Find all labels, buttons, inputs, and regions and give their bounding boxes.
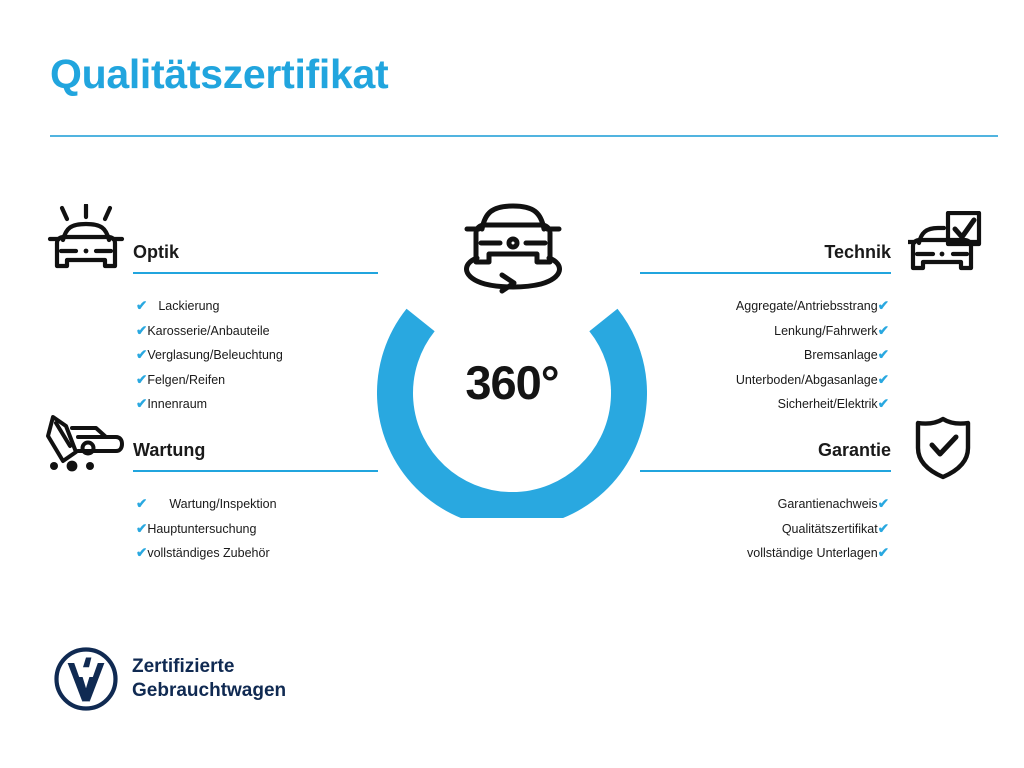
list-item-label: Karosserie/Anbauteile bbox=[147, 324, 269, 338]
shield-check-icon bbox=[914, 416, 972, 485]
check-icon: ✔ bbox=[878, 347, 889, 362]
check-icon: ✔ bbox=[878, 298, 889, 313]
list-item: ✔Innenraum bbox=[136, 392, 378, 417]
check-icon: ✔ bbox=[136, 396, 147, 411]
check-icon: ✔ bbox=[878, 496, 889, 511]
list-item: Sicherheit/Elektrik✔ bbox=[640, 392, 889, 417]
list-item: ✔Lackierung bbox=[136, 294, 378, 319]
check-icon: ✔ bbox=[878, 372, 889, 387]
badge-center-label: 360° bbox=[377, 355, 647, 410]
list-item: ✔Felgen/Reifen bbox=[136, 368, 378, 393]
section-technik: Technik Aggregate/Antriebsstrang✔ Lenkun… bbox=[640, 240, 891, 417]
section-garantie: Garantie Garantienachweis✔ Qualitätszert… bbox=[640, 438, 891, 566]
list-item-label: Qualitätszertifikat bbox=[782, 522, 878, 536]
section-optik: Optik ✔Lackierung ✔Karosserie/Anbauteile… bbox=[133, 240, 378, 417]
list-item-label: Innenraum bbox=[147, 397, 207, 411]
check-icon: ✔ bbox=[136, 496, 147, 511]
list-item-label: Aggregate/Antriebsstrang bbox=[736, 299, 878, 313]
list-item: Garantienachweis✔ bbox=[640, 492, 889, 517]
list-item-label: Wartung/Inspektion bbox=[169, 497, 276, 511]
vw-wordmark: Zertifizierte Gebrauchtwagen bbox=[132, 655, 286, 703]
check-icon: ✔ bbox=[878, 323, 889, 338]
list-item: Aggregate/Antriebsstrang✔ bbox=[640, 294, 889, 319]
section-technik-list: Aggregate/Antriebsstrang✔ Lenkung/Fahrwe… bbox=[640, 294, 891, 417]
section-title: Garantie bbox=[640, 438, 891, 462]
section-wartung-head: Wartung bbox=[133, 438, 378, 478]
vw-certified-lockup: Zertifizierte Gebrauchtwagen bbox=[54, 647, 286, 711]
check-icon: ✔ bbox=[136, 545, 147, 560]
list-item-label: vollständige Unterlagen bbox=[747, 546, 878, 560]
list-item: Lenkung/Fahrwerk✔ bbox=[640, 319, 889, 344]
section-wartung-list: ✔Wartung/Inspektion ✔Hauptuntersuchung ✔… bbox=[133, 492, 378, 566]
section-underline bbox=[133, 272, 378, 274]
check-icon: ✔ bbox=[878, 545, 889, 560]
section-optik-list: ✔Lackierung ✔Karosserie/Anbauteile ✔Verg… bbox=[133, 294, 378, 417]
header-divider bbox=[50, 135, 998, 137]
list-item-label: Bremsanlage bbox=[804, 348, 878, 362]
section-underline bbox=[133, 470, 378, 472]
vw-logo bbox=[54, 647, 118, 711]
list-item: vollständige Unterlagen✔ bbox=[640, 541, 889, 566]
list-item: ✔Wartung/Inspektion bbox=[136, 492, 378, 517]
page-title: Qualitätszertifikat bbox=[50, 52, 388, 97]
car-rotation-icon bbox=[455, 196, 571, 294]
list-item: Qualitätszertifikat✔ bbox=[640, 517, 889, 542]
list-item-label: Unterboden/Abgasanlage bbox=[736, 373, 878, 387]
check-icon: ✔ bbox=[136, 521, 147, 536]
check-icon: ✔ bbox=[136, 298, 147, 313]
car-front-shine-icon bbox=[47, 204, 125, 281]
list-item-label: Lackierung bbox=[158, 299, 219, 313]
list-item-label: Lenkung/Fahrwerk bbox=[774, 324, 878, 338]
section-garantie-head: Garantie bbox=[640, 438, 891, 478]
section-technik-head: Technik bbox=[640, 240, 891, 280]
check-icon: ✔ bbox=[136, 372, 147, 387]
car-checkbox-icon bbox=[908, 211, 982, 280]
section-optik-head: Optik bbox=[133, 240, 378, 280]
section-garantie-list: Garantienachweis✔ Qualitätszertifikat✔ v… bbox=[640, 492, 891, 566]
list-item: Unterboden/Abgasanlage✔ bbox=[640, 368, 889, 393]
check-icon: ✔ bbox=[136, 323, 147, 338]
list-item: ✔Karosserie/Anbauteile bbox=[136, 319, 378, 344]
section-title: Technik bbox=[640, 240, 891, 264]
list-item: ✔Hauptuntersuchung bbox=[136, 517, 378, 542]
section-title: Optik bbox=[133, 240, 378, 264]
list-item-label: vollständiges Zubehör bbox=[147, 546, 269, 560]
check-icon: ✔ bbox=[878, 396, 889, 411]
list-item: Bremsanlage✔ bbox=[640, 343, 889, 368]
list-item-label: Garantienachweis bbox=[778, 497, 878, 511]
list-item-label: Felgen/Reifen bbox=[147, 373, 225, 387]
badge-360-gebrauchtwagen-check: Gebrauchtwagen-Check 360° bbox=[377, 196, 649, 488]
wordmark-line-1: Zertifizierte bbox=[132, 655, 286, 679]
section-wartung: Wartung ✔Wartung/Inspektion ✔Hauptunters… bbox=[133, 438, 378, 566]
list-item: ✔Verglasung/Beleuchtung bbox=[136, 343, 378, 368]
list-item-label: Sicherheit/Elektrik bbox=[778, 397, 878, 411]
list-item: ✔vollständiges Zubehör bbox=[136, 541, 378, 566]
wordmark-line-2: Gebrauchtwagen bbox=[132, 679, 286, 703]
section-underline bbox=[640, 470, 891, 472]
list-item-label: Hauptuntersuchung bbox=[147, 522, 256, 536]
section-title: Wartung bbox=[133, 438, 378, 462]
section-underline bbox=[640, 272, 891, 274]
check-icon: ✔ bbox=[136, 347, 147, 362]
check-icon: ✔ bbox=[878, 521, 889, 536]
list-item-label: Verglasung/Beleuchtung bbox=[147, 348, 283, 362]
pencil-car-service-icon bbox=[44, 414, 124, 477]
